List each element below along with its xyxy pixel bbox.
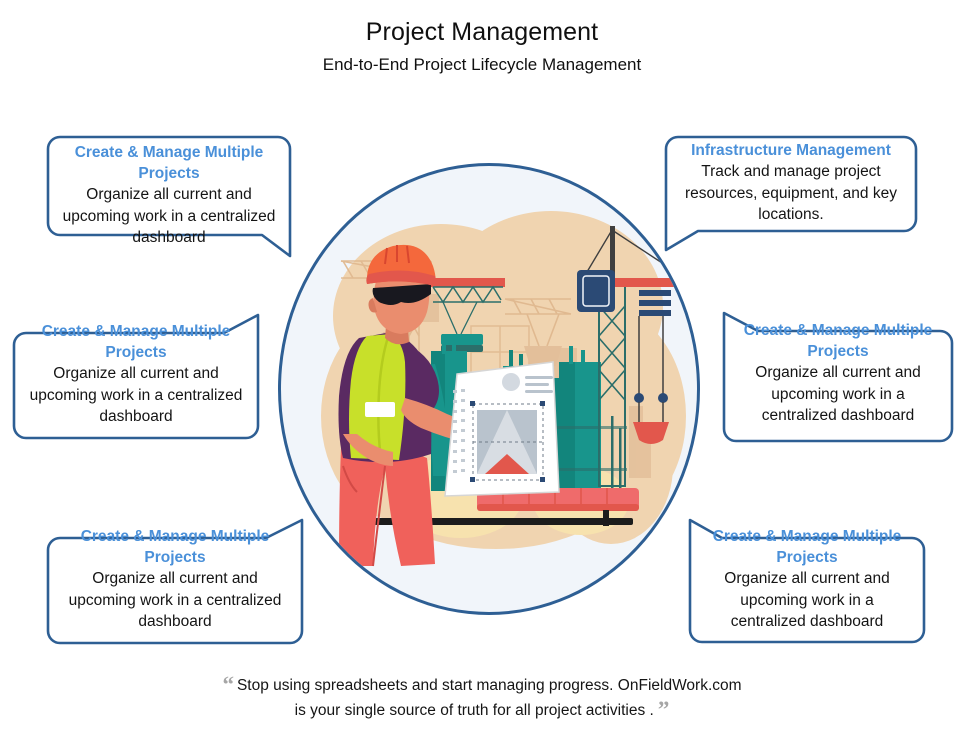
construction-worker-illustration [281, 166, 700, 615]
page-title: Project Management [0, 16, 964, 48]
callout-middle-right[interactable]: Create & Manage Multiple Projects Organi… [722, 311, 954, 443]
callout-heading: Create & Manage Multiple Projects [736, 320, 940, 362]
callout-top-right[interactable]: Infrastructure Management Track and mana… [664, 135, 918, 252]
page-subtitle: End-to-End Project Lifecycle Management [0, 52, 964, 78]
callout-body: Organize all current and upcoming work i… [736, 362, 940, 427]
callout-heading: Create & Manage Multiple Projects [702, 526, 912, 568]
callout-heading: Create & Manage Multiple Projects [60, 142, 278, 184]
callout-content: Create & Manage Multiple Projects Organi… [46, 518, 304, 633]
callout-content: Create & Manage Multiple Projects Organi… [688, 518, 926, 633]
quote-text-line-2: is your single source of truth for all p… [295, 702, 654, 719]
callout-bottom-left[interactable]: Create & Manage Multiple Projects Organi… [46, 518, 304, 645]
callout-heading: Create & Manage Multiple Projects [26, 321, 246, 363]
quote-line-2: is your single source of truth for all p… [0, 698, 964, 723]
footer-quote: “Stop using spreadsheets and start manag… [0, 673, 964, 723]
callout-body: Track and manage project resources, equi… [678, 161, 904, 226]
callout-heading: Infrastructure Management [678, 140, 904, 161]
callout-content: Create & Manage Multiple Projects Organi… [12, 313, 260, 428]
callout-bottom-right[interactable]: Create & Manage Multiple Projects Organi… [688, 518, 926, 644]
callout-body: Organize all current and upcoming work i… [26, 363, 246, 428]
quote-open-icon: “ [222, 672, 234, 697]
callout-top-left[interactable]: Create & Manage Multiple Projects Organi… [46, 135, 292, 258]
callout-content: Create & Manage Multiple Projects Organi… [722, 311, 954, 427]
callout-body: Organize all current and upcoming work i… [60, 184, 278, 249]
infographic-canvas: Project Management End-to-End Project Li… [0, 0, 964, 734]
quote-text-line-1: Stop using spreadsheets and start managi… [237, 677, 742, 694]
callout-content: Infrastructure Management Track and mana… [664, 135, 918, 226]
callout-body: Organize all current and upcoming work i… [60, 568, 290, 633]
header: Project Management End-to-End Project Li… [0, 16, 964, 78]
callout-heading: Create & Manage Multiple Projects [60, 526, 290, 568]
center-circle [278, 163, 700, 615]
quote-line-1: “Stop using spreadsheets and start manag… [0, 673, 964, 698]
callout-content: Create & Manage Multiple Projects Organi… [46, 135, 292, 249]
callout-middle-left[interactable]: Create & Manage Multiple Projects Organi… [12, 313, 260, 440]
quote-close-icon: ” [658, 697, 670, 722]
callout-body: Organize all current and upcoming work i… [702, 568, 912, 633]
